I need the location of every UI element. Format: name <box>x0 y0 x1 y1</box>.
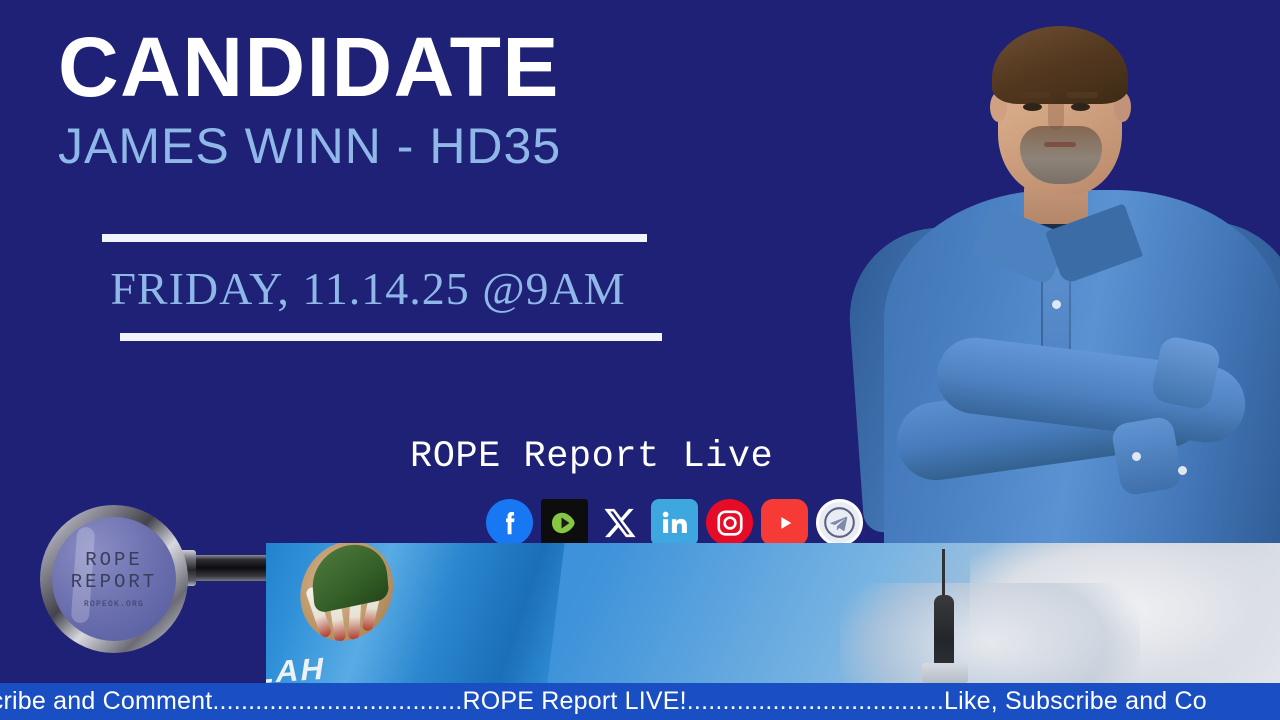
x-icon[interactable] <box>596 499 643 546</box>
rumble-icon[interactable] <box>541 499 588 546</box>
youtube-icon[interactable] <box>761 499 808 546</box>
logo-url: ROPEOK.ORG <box>84 600 144 609</box>
video-inset[interactable]: OKLAH <box>266 543 1280 683</box>
portrait-shirt-button <box>1052 300 1061 309</box>
instagram-icon[interactable] <box>706 499 753 546</box>
video-statue-base <box>922 663 968 683</box>
portrait-eye-left <box>1023 103 1042 111</box>
ticker-bar: bscribe and Comment.....................… <box>0 683 1280 720</box>
portrait-brow-right <box>1066 92 1098 98</box>
show-name: ROPE Report Live <box>410 436 773 478</box>
candidate-subtitle: JAMES WINN - HD35 <box>58 120 698 173</box>
page-title: CANDIDATE <box>58 28 698 108</box>
logo-line-2: REPORT <box>71 571 157 593</box>
candidate-portrait <box>826 0 1280 556</box>
magnifier-rim-icon: ROPE REPORT ROPEOK.ORG <box>40 505 188 653</box>
social-links-row <box>486 499 863 546</box>
headline-block: CANDIDATE JAMES WINN - HD35 <box>58 28 698 172</box>
rope-report-logo: ROPE REPORT ROPEOK.ORG <box>22 495 290 660</box>
event-date: FRIDAY, 11.14.25 @9AM <box>58 262 678 315</box>
facebook-icon[interactable] <box>486 499 533 546</box>
broadcast-stage: CANDIDATE JAMES WINN - HD35 FRIDAY, 11.1… <box>0 0 1280 720</box>
logo-line-1: ROPE <box>85 549 143 571</box>
portrait-brow-left <box>1018 92 1050 98</box>
video-cloud <box>840 583 1140 683</box>
ticker-text: bscribe and Comment.....................… <box>0 687 1207 716</box>
video-statue <box>934 595 954 669</box>
magnifier-lens-icon: ROPE REPORT ROPEOK.ORG <box>52 517 176 641</box>
portrait-eye-right <box>1071 103 1090 111</box>
oklahoma-flag: OKLAH <box>266 543 565 683</box>
portrait-cuff-button <box>1132 452 1141 461</box>
linkedin-icon[interactable] <box>651 499 698 546</box>
flag-text: OKLAH <box>266 651 328 683</box>
portrait-cuff-button <box>1178 466 1187 475</box>
portrait-mouth <box>1044 142 1076 147</box>
portrait-cuff-lower <box>1110 415 1184 497</box>
divider-top <box>102 234 647 242</box>
portrait-hair <box>992 26 1128 104</box>
divider-bottom <box>120 333 662 341</box>
